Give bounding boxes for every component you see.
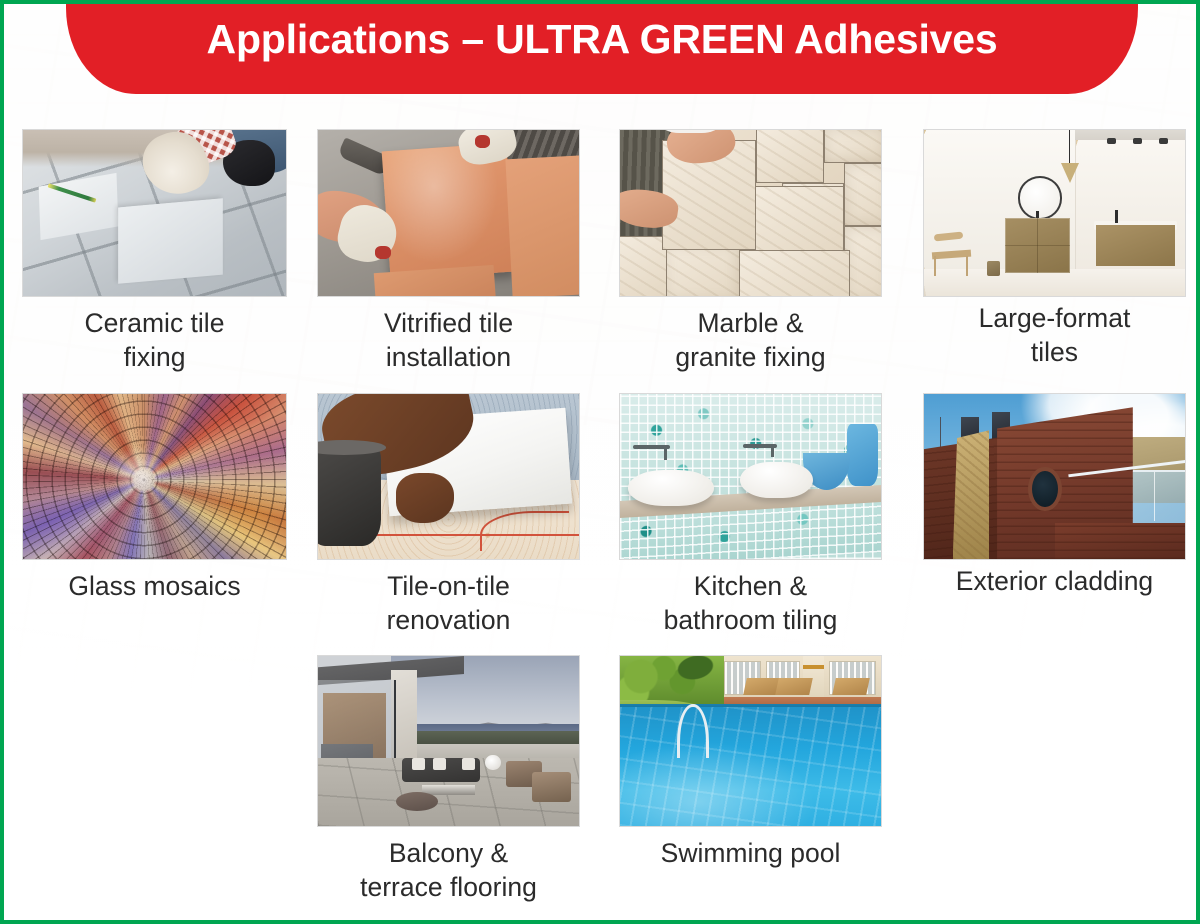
vitrified-tile-installation-photo (317, 129, 580, 297)
card-caption: Glass mosaics (22, 569, 287, 603)
application-card-balcony-terrace-flooring[interactable]: Balcony & terrace flooring (317, 655, 580, 904)
application-card-kitchen-bathroom-tiling[interactable]: Kitchen & bathroom tiling (619, 393, 882, 637)
card-caption: Exterior cladding (923, 564, 1186, 598)
exterior-cladding-photo (923, 393, 1186, 560)
balcony-terrace-flooring-photo (317, 655, 580, 827)
marble-granite-fixing-photo (619, 129, 882, 297)
card-caption: Marble & granite fixing (619, 306, 882, 374)
card-caption: Balcony & terrace flooring (317, 836, 580, 904)
application-card-vitrified-tile-installation[interactable]: Vitrified tile installation (317, 129, 580, 374)
application-card-glass-mosaics[interactable]: Glass mosaics (22, 393, 287, 603)
title-banner: Applications – ULTRA GREEN Adhesives (66, 0, 1138, 94)
application-card-large-format-tiles[interactable]: Large-format tiles (923, 129, 1186, 369)
applications-grid: Ceramic tile fixing Vitrified tile insta… (4, 4, 1196, 920)
slide-canvas: Applications – ULTRA GREEN Adhesives Cer… (0, 0, 1200, 924)
card-caption: Ceramic tile fixing (22, 306, 287, 374)
application-card-marble-granite-fixing[interactable]: Marble & granite fixing (619, 129, 882, 374)
card-caption: Large-format tiles (923, 301, 1186, 369)
kitchen-bathroom-tiling-photo (619, 393, 882, 560)
tile-on-tile-renovation-photo (317, 393, 580, 560)
card-caption: Vitrified tile installation (317, 306, 580, 374)
page-title: Applications – ULTRA GREEN Adhesives (66, 16, 1138, 63)
swimming-pool-photo (619, 655, 882, 827)
application-card-swimming-pool[interactable]: Swimming pool (619, 655, 882, 870)
application-card-ceramic-tile-fixing[interactable]: Ceramic tile fixing (22, 129, 287, 374)
card-caption: Kitchen & bathroom tiling (619, 569, 882, 637)
application-card-exterior-cladding[interactable]: Exterior cladding (923, 393, 1186, 598)
application-card-tile-on-tile-renovation[interactable]: Tile-on-tile renovation (317, 393, 580, 637)
card-caption: Swimming pool (619, 836, 882, 870)
ceramic-tile-fixing-photo (22, 129, 287, 297)
card-caption: Tile-on-tile renovation (317, 569, 580, 637)
glass-mosaics-photo (22, 393, 287, 560)
large-format-tiles-photo (923, 129, 1186, 297)
